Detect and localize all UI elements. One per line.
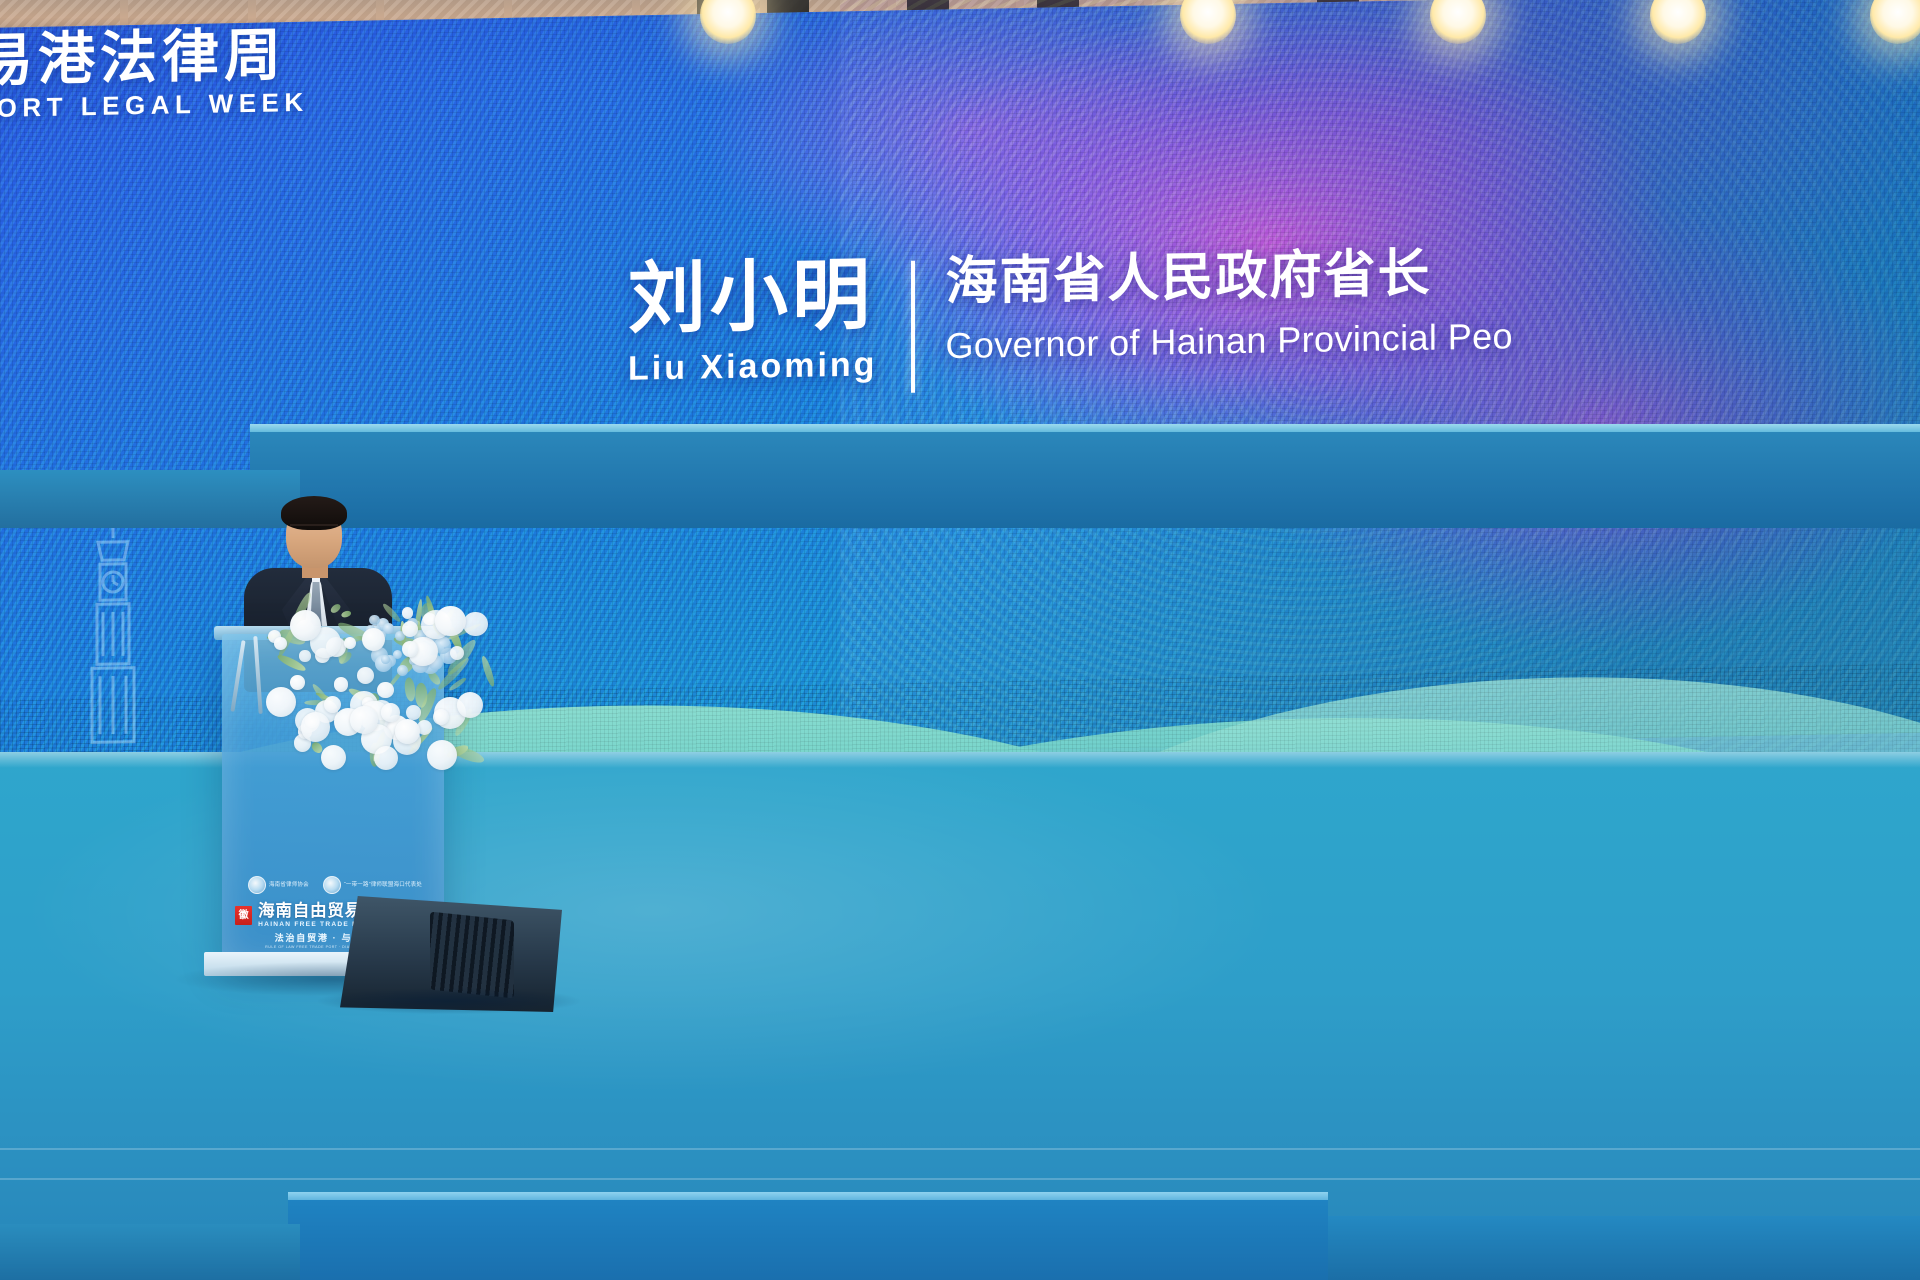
white-bloom [301, 712, 330, 741]
speaker-title-cn: 海南省人民政府省长 [945, 244, 1513, 311]
organizer-name-cn: “一带一路”律师联盟海口代表处 [344, 882, 422, 888]
monitor-grill [430, 912, 514, 999]
speaker-title-en: Governor of Hainan Provincial Peo [945, 315, 1513, 367]
event-banner-headline: 贸易港法律周 DE PORT LEGAL WEEK [0, 24, 374, 126]
hydrangea-floret [381, 655, 390, 664]
seal-icon [323, 876, 341, 894]
white-bloom [299, 650, 310, 661]
white-bloom [344, 637, 356, 649]
speaker-title-group: 海南省人民政府省长 Governor of Hainan Provincial … [915, 244, 1513, 368]
stage-scene: 贸易港法律周 DE PORT LEGAL WEEK 刘小明 Liu Xiaomi… [0, 0, 1920, 1280]
hydrangea-floret [383, 623, 393, 633]
clock-tower-icon [78, 519, 148, 750]
speaker-name-group: 刘小明 Liu Xiaoming [628, 255, 911, 388]
flower-arrangement [262, 604, 492, 774]
banner-title-cn: 贸易港法律周 [0, 24, 374, 93]
white-bloom [274, 637, 287, 650]
organizer-logo: “一带一路”律师联盟海口代表处 [323, 876, 422, 894]
stage-riser [250, 432, 1920, 528]
white-bloom [266, 687, 296, 717]
white-bloom [290, 675, 305, 690]
foliage-leaf [415, 682, 427, 707]
white-bloom [463, 612, 488, 637]
organizer-name-cn: 海南省律师协会 [269, 882, 309, 888]
white-bloom [395, 719, 420, 744]
seal-icon [248, 876, 266, 894]
speaker-name-cn: 刘小明 [628, 255, 877, 339]
stage-apron-right [1328, 1216, 1920, 1280]
white-bloom [427, 740, 457, 770]
speaker-lower-third: 刘小明 Liu Xiaoming 海南省人民政府省长 Governor of H… [628, 244, 1513, 397]
white-bloom [334, 677, 348, 691]
floor-seam-line [0, 1148, 1920, 1150]
white-bloom [357, 667, 374, 684]
hydrangea-floret [369, 615, 380, 626]
organizer-logos: 海南省律师协会 “一带一路”律师联盟海口代表处 [236, 876, 434, 894]
monitor-shadow [318, 988, 580, 1014]
white-bloom [290, 610, 321, 641]
white-bloom [381, 703, 400, 722]
event-mark-icon: 徽 [235, 906, 252, 925]
organizer-logo: 海南省律师协会 [248, 876, 309, 894]
hydrangea-floret [397, 665, 408, 676]
white-bloom [350, 706, 378, 734]
white-bloom [435, 606, 466, 637]
stage-apron-left [0, 1224, 300, 1280]
foliage-leaf [340, 610, 352, 619]
white-bloom [321, 745, 346, 770]
hydrangea-floret [393, 650, 402, 659]
foliage-leaf [329, 602, 342, 614]
speaker-name-en: Liu Xiaoming [628, 345, 877, 388]
white-bloom [402, 607, 414, 619]
white-bloom [377, 682, 394, 699]
white-bloom [374, 746, 398, 770]
stage-apron [288, 1200, 1328, 1280]
white-bloom [457, 692, 483, 718]
floor-seam-line [0, 1178, 1920, 1180]
glasses-icon [290, 524, 338, 537]
